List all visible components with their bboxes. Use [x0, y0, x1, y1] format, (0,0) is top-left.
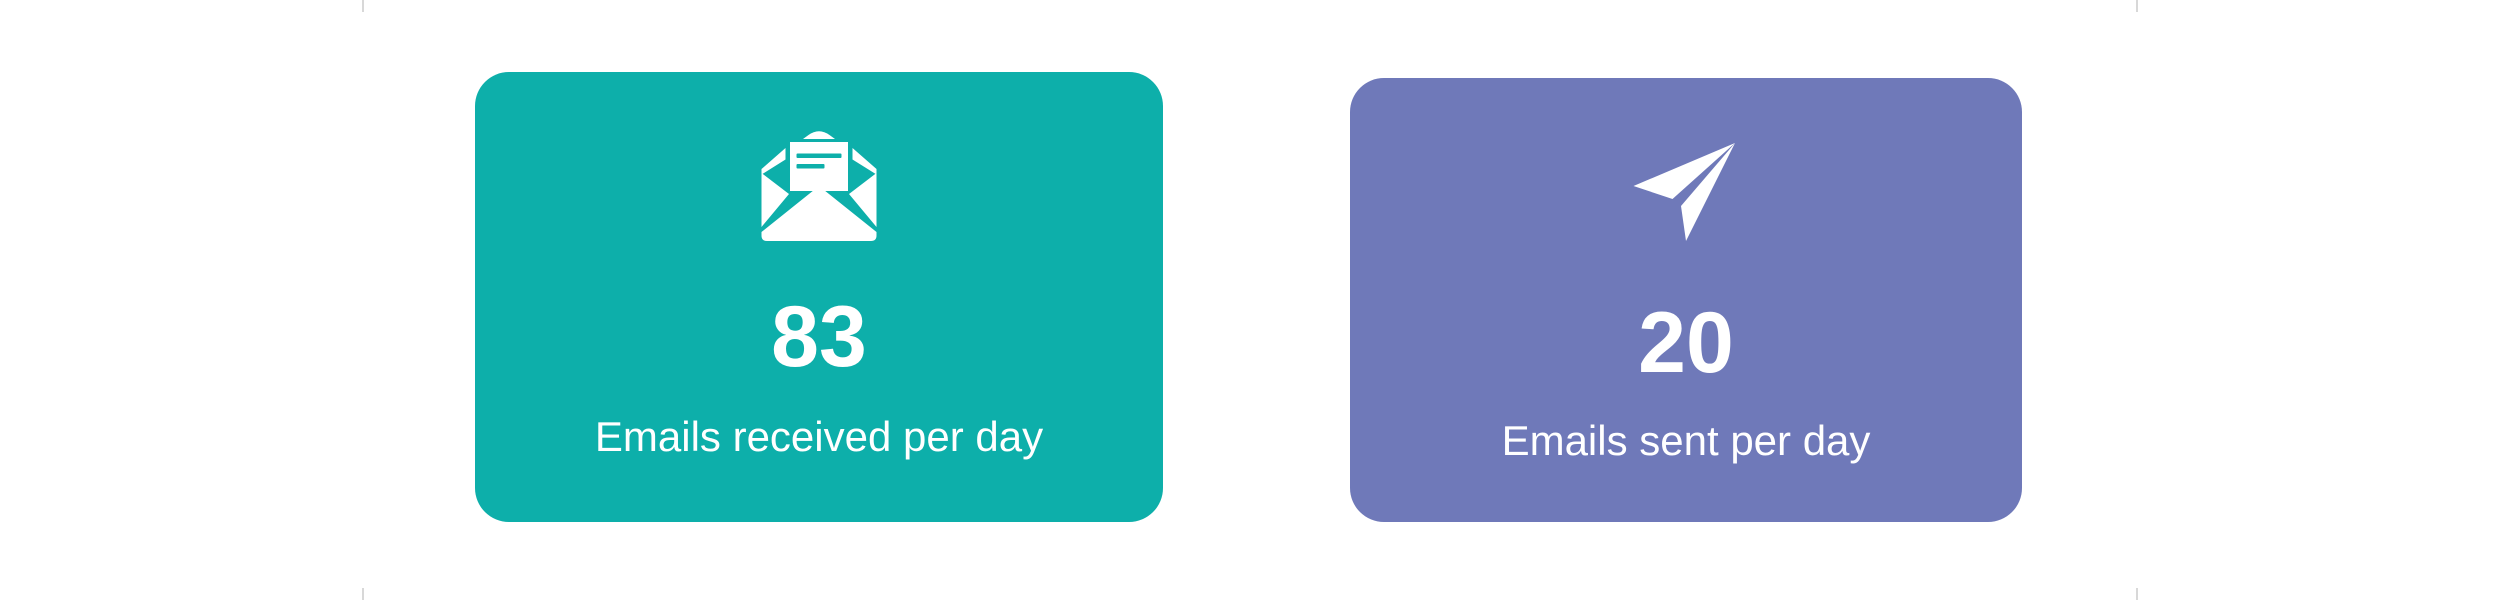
stat-label-emails-received: Emails received per day — [595, 414, 1043, 460]
crop-mark-bottom-left — [362, 588, 364, 600]
envelope-open-text-icon — [755, 124, 883, 252]
crop-mark-top-right — [2136, 0, 2138, 12]
stat-card-emails-received[interactable]: 83 Emails received per day — [475, 72, 1163, 522]
crop-mark-top-left — [362, 0, 364, 12]
stat-label-emails-sent: Emails sent per day — [1502, 418, 1871, 464]
crop-mark-bottom-right — [2136, 588, 2138, 600]
stat-value-emails-received: 83 — [771, 294, 867, 380]
paper-plane-send-icon — [1622, 128, 1750, 256]
stat-card-emails-sent[interactable]: 20 Emails sent per day — [1350, 78, 2022, 522]
stat-value-emails-sent: 20 — [1638, 300, 1734, 386]
stats-card-board: 83 Emails received per day 20 Emails sen… — [0, 0, 2500, 600]
